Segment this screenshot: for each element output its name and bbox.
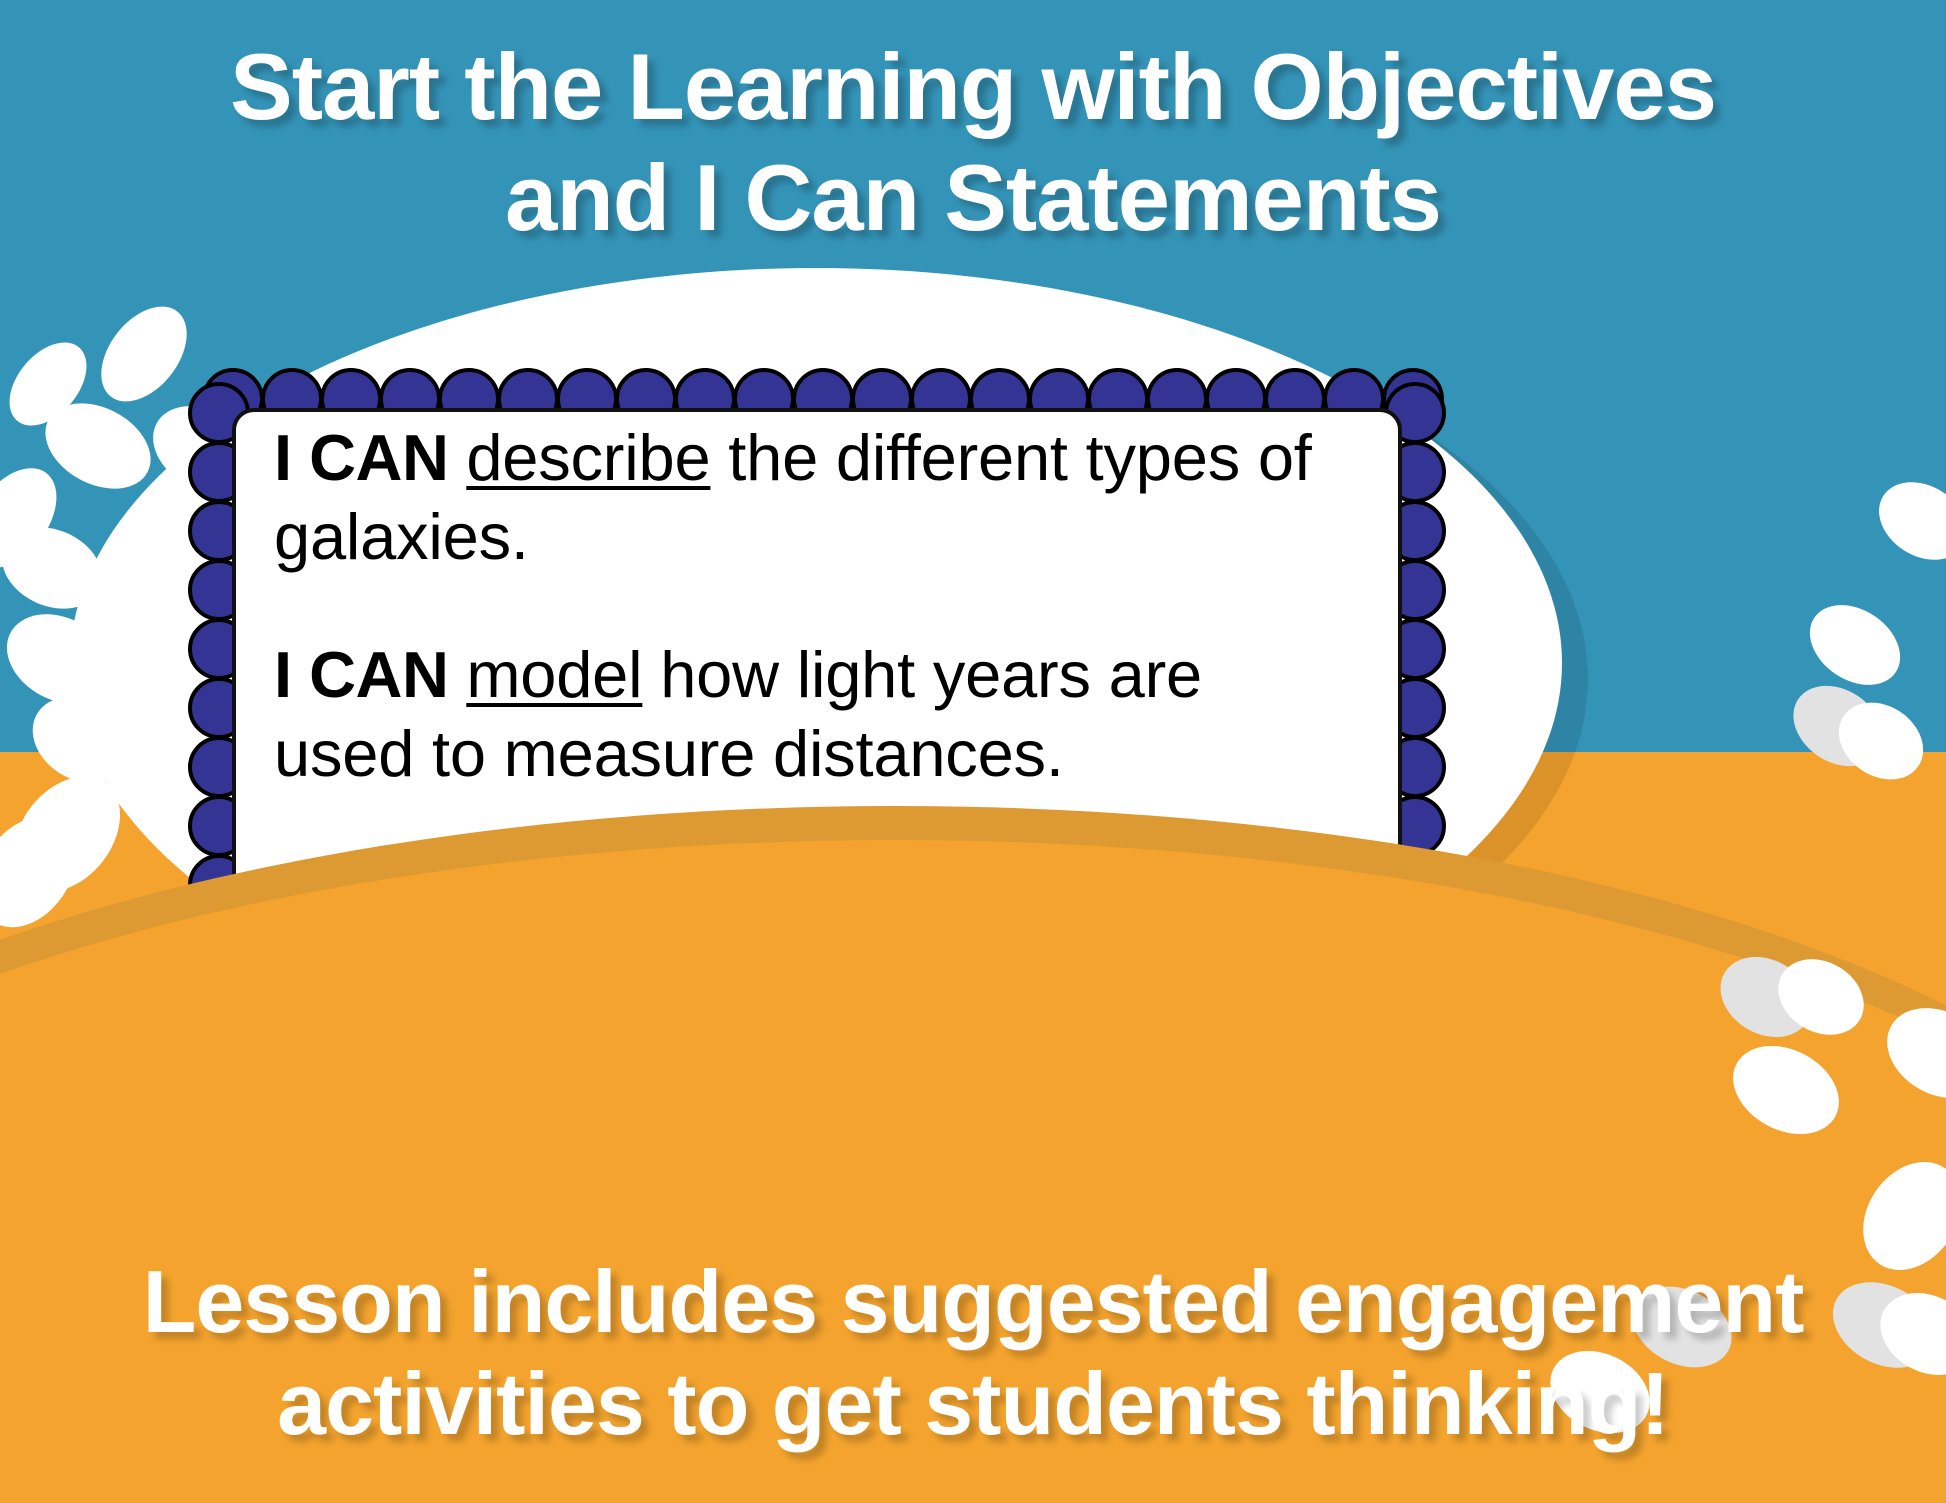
i-can-verb: model [466, 638, 642, 711]
i-can-statement: I CAN model how light years are used to … [274, 635, 1334, 794]
i-can-prefix: I CAN [274, 421, 448, 494]
slide-headline: Start the Learning with Objectives and I… [0, 32, 1946, 254]
i-can-prefix: I CAN [274, 638, 448, 711]
slide-caption: Lesson includes suggested engagement act… [0, 1251, 1946, 1455]
slide-canvas: I CAN describe the different types of ga… [0, 0, 1946, 1503]
i-can-statement: I CAN describe the different types of ga… [274, 418, 1334, 577]
i-can-verb: describe [466, 421, 710, 494]
